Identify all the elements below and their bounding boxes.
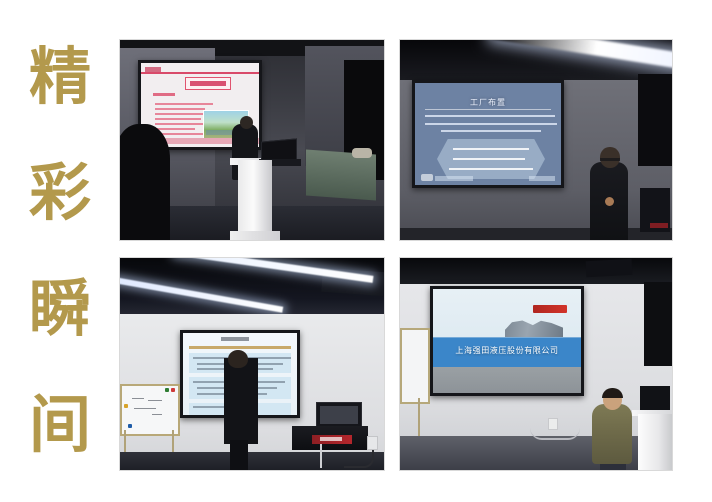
slide-title-box [185, 77, 231, 90]
slide-top-rule [141, 72, 259, 74]
slide-body-line [441, 130, 541, 132]
callout-line [453, 158, 525, 160]
photo-gallery: 工厂布置 [119, 39, 673, 473]
presenter-head [240, 116, 253, 129]
floor [400, 228, 672, 240]
whiteboard [400, 328, 430, 404]
slide-body-line [155, 108, 205, 110]
laptop [316, 402, 362, 428]
slide-body-line [425, 115, 555, 117]
callout-line [453, 148, 529, 150]
gallery-photo-top-right[interactable]: 工厂布置 [399, 39, 673, 241]
dark-panel [644, 282, 672, 366]
slide-body-line [155, 123, 209, 125]
slide-footer-text [435, 176, 473, 181]
slide-footer-meta [529, 176, 555, 181]
photo-3-scene [120, 258, 384, 470]
slide-body-line [425, 123, 557, 125]
podium [638, 414, 672, 470]
callout-line [449, 168, 533, 170]
whiteboard-writing [148, 400, 162, 401]
photo-4-scene: 上海强田液压股份有限公司 [400, 258, 672, 470]
dark-panel [638, 74, 672, 166]
heading-char-4: 间 [29, 394, 91, 456]
marker-green [165, 388, 169, 392]
gallery-photo-top-left[interactable] [119, 39, 385, 241]
av-monitor [640, 386, 670, 412]
slide-title-text: 工厂布置 [415, 97, 561, 108]
marker-red [171, 388, 175, 392]
heading-char-2: 彩 [29, 162, 91, 224]
slide-body-line [155, 128, 195, 130]
slide-body-line [155, 103, 213, 105]
walking-person-head [228, 350, 248, 368]
gallery-photo-bottom-left[interactable] [119, 257, 385, 471]
podium [238, 160, 272, 238]
marker-blue [128, 424, 132, 428]
walking-person [224, 358, 258, 444]
heading-char-3: 瞬 [29, 278, 91, 340]
whiteboard-markers [402, 332, 422, 337]
projection-screen: 上海强田液压股份有限公司 [430, 286, 584, 396]
vertical-heading: 精 彩 瞬 间 [16, 46, 104, 456]
marker-yellow [124, 404, 128, 408]
slide-callout-shape [437, 139, 545, 179]
product-image [505, 319, 563, 337]
audience-silhouette [119, 124, 170, 240]
table-object [352, 148, 372, 158]
whiteboard-writing [132, 398, 144, 399]
wall-outlet [367, 436, 378, 450]
slide-company-name: 上海强田液压股份有限公司 [433, 345, 581, 356]
projection-screen: 工厂布置 [412, 80, 564, 188]
slide-body-line [155, 118, 201, 120]
glasses-icon [600, 158, 620, 161]
photo-1-scene [120, 40, 384, 240]
whiteboard [120, 384, 180, 436]
company-logo [533, 305, 567, 313]
slide-footer-logo [421, 174, 433, 181]
slide-subtitle [153, 93, 175, 96]
poster-page: 精 彩 瞬 间 [0, 0, 712, 502]
av-console-panel [312, 435, 352, 444]
slide-rule [425, 109, 551, 110]
heading-char-1: 精 [29, 46, 91, 108]
presenter-hand [605, 197, 614, 206]
slide-title-text [190, 81, 226, 86]
ceiling-vent [586, 259, 633, 277]
podium-base [230, 231, 280, 240]
slide-gold-rule [189, 346, 291, 349]
whiteboard-writing [134, 408, 156, 409]
cable-hanging [320, 444, 322, 468]
slide-title-text [221, 337, 249, 341]
gallery-photo-bottom-right[interactable]: 上海强田液压股份有限公司 [399, 257, 673, 471]
slide-content: 上海强田液压股份有限公司 [433, 289, 581, 393]
photo-2-scene: 工厂布置 [400, 40, 672, 240]
power-cord [530, 428, 580, 440]
av-monitor-label [650, 223, 668, 228]
slide-content: 工厂布置 [415, 83, 561, 185]
presenter-body [592, 404, 632, 464]
whiteboard-writing [152, 414, 162, 415]
